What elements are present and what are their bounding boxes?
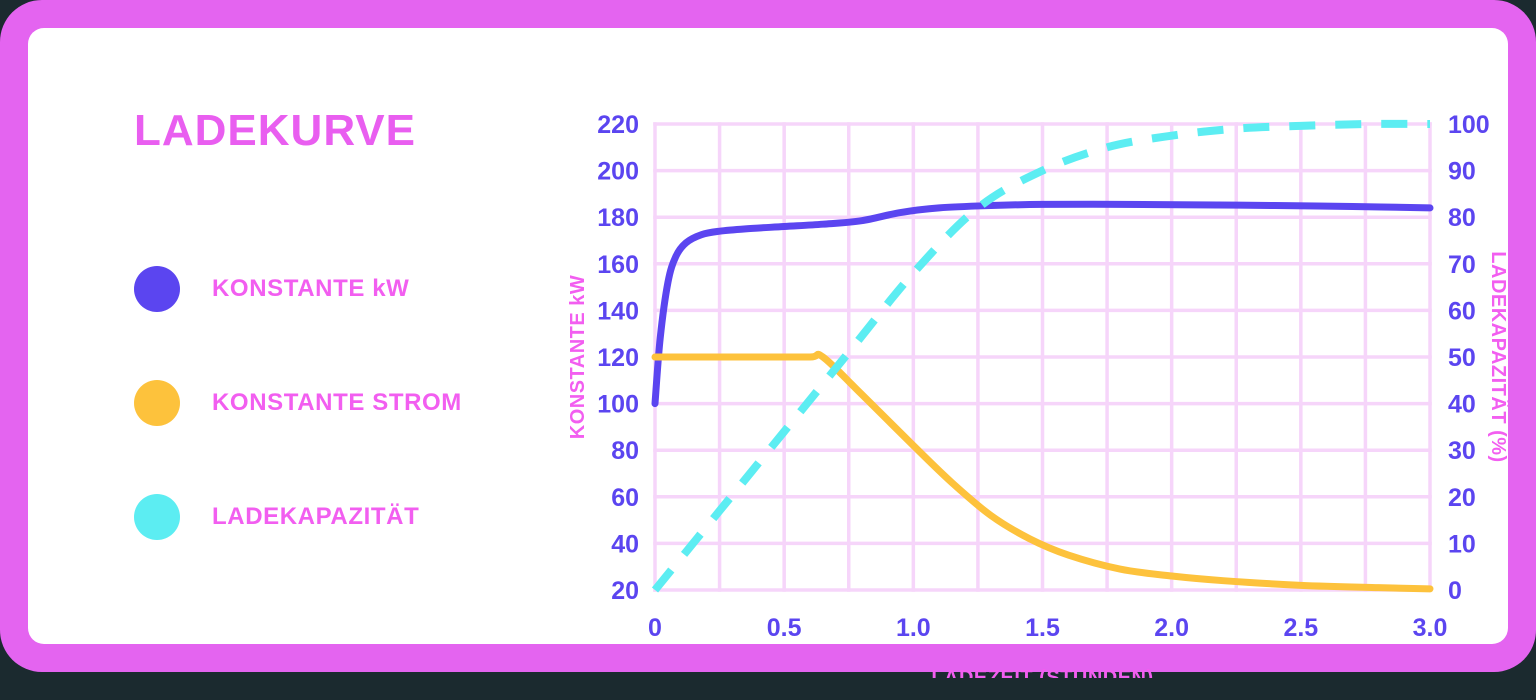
y2-tick-label: 80 <box>1448 204 1476 232</box>
legend-item-ladekapazitaet[interactable]: LADEKAPAZITÄT <box>134 488 462 546</box>
y2-tick-label: 60 <box>1448 297 1476 325</box>
x-tick-label: 2.5 <box>1283 614 1318 642</box>
legend-item-konstante-kw[interactable]: KONSTANTE kW <box>134 260 462 318</box>
y-axis-left-tick-labels: 20406080100120140160180200220 <box>597 111 639 605</box>
y-tick-label: 20 <box>611 577 639 605</box>
y2-tick-label: 40 <box>1448 391 1476 419</box>
chart-svg: 00.51.01.52.02.53.0 20406080100120140160… <box>548 78 1508 678</box>
card-frame: LADEKURVE KONSTANTE kW KONSTANTE STROM L… <box>0 0 1536 672</box>
x-axis-tick-labels: 00.51.01.52.02.53.0 <box>648 614 1447 642</box>
y-tick-label: 220 <box>597 111 639 139</box>
y2-tick-label: 20 <box>1448 484 1476 512</box>
y-tick-label: 160 <box>597 251 639 279</box>
x-tick-label: 0.5 <box>767 614 802 642</box>
x-tick-label: 0 <box>648 614 662 642</box>
legend-marker-konstante-kw <box>134 266 180 312</box>
x-tick-label: 3.0 <box>1413 614 1448 642</box>
legend-marker-ladekapazitaet <box>134 494 180 540</box>
x-tick-label: 1.0 <box>896 614 931 642</box>
x-axis-title: LADEZEIT (STUNDEN) <box>931 667 1153 678</box>
legend-label-konstante-kw: KONSTANTE kW <box>212 275 409 303</box>
y2-tick-label: 30 <box>1448 437 1476 465</box>
y-axis-right-title: LADEKAPAZITÄT (%) <box>1487 251 1508 462</box>
y-axis-left-title: KONSTANTE kW <box>567 275 589 440</box>
legend-label-ladekapazitaet: LADEKAPAZITÄT <box>212 503 419 531</box>
legend-item-konstante-strom[interactable]: KONSTANTE STROM <box>134 374 462 432</box>
y2-tick-label: 0 <box>1448 577 1462 605</box>
y-tick-label: 80 <box>611 437 639 465</box>
y-tick-label: 60 <box>611 484 639 512</box>
y-tick-label: 180 <box>597 204 639 232</box>
y2-tick-label: 70 <box>1448 251 1476 279</box>
x-tick-label: 1.5 <box>1025 614 1060 642</box>
y2-tick-label: 90 <box>1448 158 1476 186</box>
y-tick-label: 100 <box>597 391 639 419</box>
legend-marker-konstante-strom <box>134 380 180 426</box>
x-tick-label: 2.0 <box>1154 614 1189 642</box>
left-panel: LADEKURVE KONSTANTE kW KONSTANTE STROM L… <box>108 78 548 618</box>
card-inner: LADEKURVE KONSTANTE kW KONSTANTE STROM L… <box>28 28 1508 644</box>
y2-tick-label: 100 <box>1448 111 1490 139</box>
y-tick-label: 140 <box>597 297 639 325</box>
chart-legend: KONSTANTE kW KONSTANTE STROM LADEKAPAZIT… <box>134 260 462 602</box>
y2-tick-label: 50 <box>1448 344 1476 372</box>
infographic-root: LADEKURVE KONSTANTE kW KONSTANTE STROM L… <box>0 0 1536 700</box>
y-tick-label: 120 <box>597 344 639 372</box>
page-title: LADEKURVE <box>134 106 416 156</box>
y2-tick-label: 10 <box>1448 530 1476 558</box>
y-tick-label: 40 <box>611 530 639 558</box>
y-axis-right-tick-labels: 0102030405060708090100 <box>1448 111 1490 605</box>
legend-label-konstante-strom: KONSTANTE STROM <box>212 389 462 417</box>
y-tick-label: 200 <box>597 158 639 186</box>
chart-plot-area: 00.51.01.52.02.53.0 20406080100120140160… <box>548 78 1508 678</box>
